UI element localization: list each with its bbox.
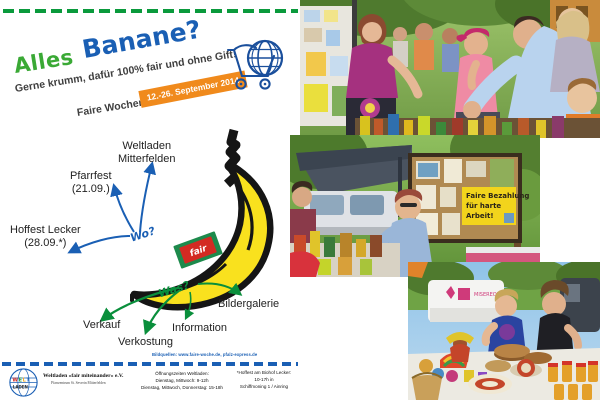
footer-hoffest-title: *Hoffest am Biohof Lecker:	[225, 370, 303, 377]
footer-hoffest-line2: Schiffmoning 1 / Ainring	[225, 384, 303, 391]
image-credit: Bildquellen: www.faire-woche.de, pfalz-e…	[152, 352, 257, 357]
svg-text:T: T	[26, 378, 30, 384]
headline-word-alles: Alles	[12, 45, 75, 78]
svg-text:W: W	[12, 378, 18, 384]
mindmap-item-pfarrfest: Pfarrfest (21.09.)	[70, 170, 112, 196]
divider-dashed-blue-bottom	[2, 362, 298, 366]
photo-info-board-stand: Faire Bezahlung für harte Arbeit!	[290, 135, 540, 277]
mindmap-item-bildergalerie: Bildergalerie	[218, 298, 279, 311]
footer-org-name: Weltladen »fair miteinander« e.V.	[43, 373, 123, 379]
divider-dashed-green-top	[3, 9, 298, 13]
poster-root: Alles Banane? Gerne krumm, dafür 100% fa…	[0, 0, 600, 400]
mindmap-item-hoffest-line1: Hoffest Lecker	[10, 224, 81, 237]
weltladen-logo: W E L T LADEN	[9, 368, 38, 397]
mindmap-item-weltladen-line1: Weltladen	[118, 140, 175, 153]
mindmap-item-pfarrfest-line2: (21.09.)	[70, 183, 112, 196]
footer-hours-line1: Dienstag, Mittwoch: 9-12h	[122, 378, 242, 385]
footer-opening-hours: Öffnungszeiten Weltladen: Dienstag, Mitt…	[122, 371, 242, 392]
globe-icon	[248, 41, 282, 75]
svg-text:LADEN: LADEN	[13, 385, 28, 390]
mindmap-item-verkostung: Verkostung	[118, 336, 173, 349]
svg-text:Faire Bezahlung: Faire Bezahlung	[466, 192, 529, 200]
footer-hoffest-line1: 10-17h in	[225, 377, 303, 384]
headline-subline-2: Faire Wochen	[76, 96, 146, 119]
mindmap-item-hoffest-line2: (28.09.*)	[10, 237, 81, 250]
svg-text:Arbeit!: Arbeit!	[466, 212, 494, 220]
footer-hoffest-info: *Hoffest am Biohof Lecker: 10-17h in Sch…	[225, 370, 303, 391]
photo-market-stall-people	[300, 0, 600, 138]
footer-hours-line2: Dienstag, Mittwoch, Donnerstag: 15-18h	[122, 385, 242, 392]
mindmap-item-verkauf: Verkauf	[83, 319, 120, 332]
shopping-cart-globe-icon	[224, 36, 286, 98]
mindmap-item-information: Information	[172, 322, 227, 335]
footer-org-subline: Pfarrzentrum St. Severin Mitterfelden	[51, 381, 106, 385]
mindmap-item-weltladen: Weltladen Mitterfelden	[118, 140, 175, 166]
mindmap-item-pfarrfest-line1: Pfarrfest	[70, 170, 112, 183]
photo-craft-goods-table: MISEREOR	[408, 262, 600, 400]
footer-hours-title: Öffnungszeiten Weltladen:	[122, 371, 242, 378]
svg-text:für harte: für harte	[466, 202, 501, 210]
mindmap-item-hoffest: Hoffest Lecker (28.09.*)	[10, 224, 81, 250]
mindmap-item-weltladen-line2: Mitterfelden	[118, 153, 175, 166]
